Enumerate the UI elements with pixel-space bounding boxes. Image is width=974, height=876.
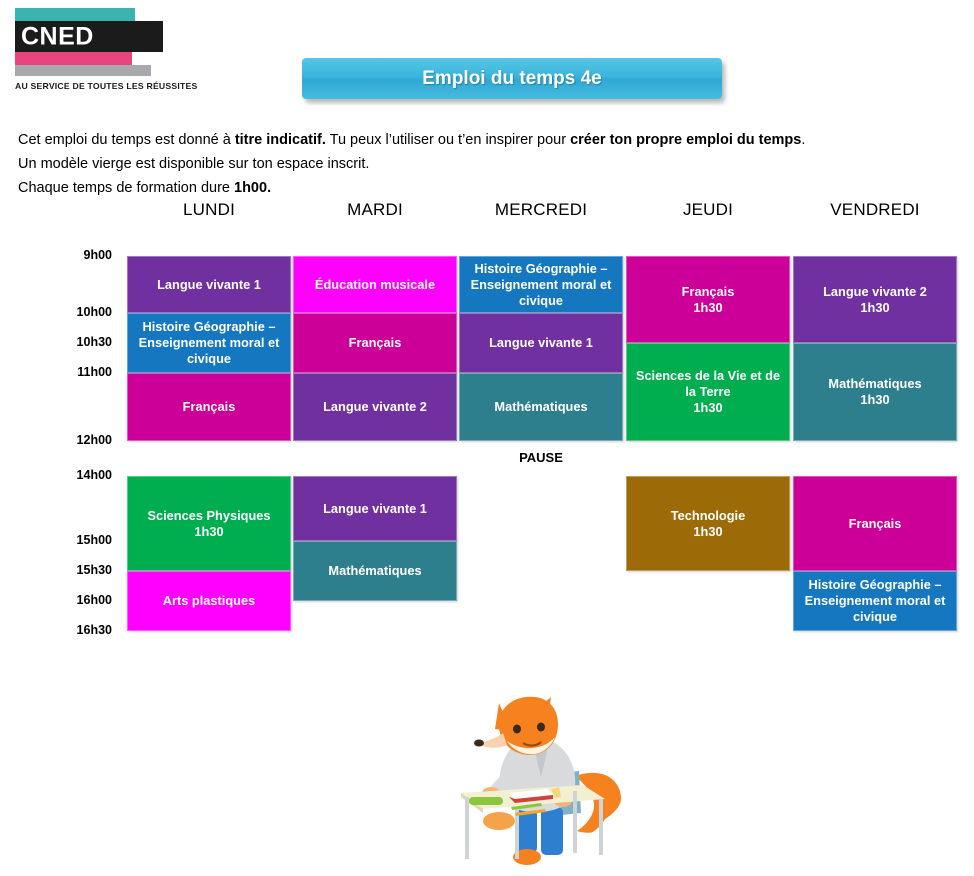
course-title: Arts plastiques [163, 593, 255, 609]
logo-bar-gray [15, 65, 151, 76]
course-title: Langue vivante 1 [489, 335, 593, 351]
course-title: Langue vivante 2 [323, 399, 427, 415]
logo-bar-teal [15, 8, 135, 21]
intro-text-e: . [801, 132, 805, 148]
course-title: Histoire Géographie – Enseignement moral… [464, 261, 618, 309]
logo-tagline: AU SERVICE DE TOUTES LES RÉUSSITES [15, 81, 170, 91]
course-cell[interactable]: Mathématiques1h30 [793, 343, 957, 441]
intro-text-f: Chaque temps de formation dure [18, 180, 234, 196]
intro-text-g: 1h00. [234, 180, 271, 196]
course-title: Mathématiques [494, 399, 587, 415]
course-cell[interactable]: Français [793, 476, 957, 571]
time-label-10h30: 10h30 [0, 335, 112, 349]
intro-line-1: Cet emploi du temps est donné à titre in… [18, 128, 938, 152]
course-cell[interactable]: Langue vivante 1 [459, 313, 623, 373]
time-label-16h30: 16h30 [0, 623, 112, 637]
logo-bar-black: CNED [15, 21, 163, 52]
intro-text-c: Tu peux l’utiliser ou t’en inspirer pour [326, 132, 570, 148]
time-label-14h00: 14h00 [0, 468, 112, 482]
page-title-banner: Emploi du temps 4e [302, 58, 722, 99]
day-header-lundi: LUNDI [127, 200, 291, 220]
intro-text-a: Cet emploi du temps est donné à [18, 132, 235, 148]
course-title: Éducation musicale [315, 277, 435, 293]
course-cell[interactable]: Mathématiques [459, 373, 623, 441]
course-title: Français [682, 284, 735, 300]
course-cell[interactable]: Éducation musicale [293, 256, 457, 313]
intro-line-3: Chaque temps de formation dure 1h00. [18, 176, 938, 200]
time-label-15h30: 15h30 [0, 563, 112, 577]
course-title: Langue vivante 1 [323, 501, 427, 517]
day-header-mercredi: MERCREDI [459, 200, 623, 220]
pause-label: PAUSE [459, 450, 623, 465]
course-cell[interactable]: Technologie1h30 [626, 476, 790, 571]
course-title: Mathématiques [828, 376, 921, 392]
course-duration: 1h30 [631, 400, 785, 416]
time-label-10h00: 10h00 [0, 305, 112, 319]
course-title: Mathématiques [328, 563, 421, 579]
course-cell[interactable]: Langue vivante 2 [293, 373, 457, 441]
course-title: Français [349, 335, 402, 351]
day-header-jeudi: JEUDI [626, 200, 790, 220]
time-label-9h00: 9h00 [0, 248, 112, 262]
cned-logo: CNED AU SERVICE DE TOUTES LES RÉUSSITES [15, 8, 167, 91]
course-cell[interactable]: Sciences de la Vie et de la Terre1h30 [626, 343, 790, 441]
logo-wordmark: CNED [21, 22, 94, 51]
course-title: Langue vivante 2 [823, 284, 927, 300]
day-header-vendredi: VENDREDI [793, 200, 957, 220]
course-title: Histoire Géographie – Enseignement moral… [798, 577, 952, 625]
course-cell[interactable]: Histoire Géographie – Enseignement moral… [459, 256, 623, 313]
timetable: LUNDIMARDIMERCREDIJEUDIVENDREDI [0, 200, 974, 646]
intro-text-b: titre indicatif. [235, 132, 326, 148]
course-title: Histoire Géographie – Enseignement moral… [132, 319, 286, 367]
timetable-board: 9h0010h0010h3011h0012h0014h0015h0015h301… [0, 226, 974, 646]
course-cell[interactable]: Langue vivante 1 [293, 476, 457, 541]
course-cell[interactable]: Histoire Géographie – Enseignement moral… [793, 571, 957, 631]
intro-paragraph: Cet emploi du temps est donné à titre in… [18, 128, 938, 200]
course-title: Sciences de la Vie et de la Terre [631, 368, 785, 400]
course-cell[interactable]: Mathématiques [293, 541, 457, 601]
time-label-15h00: 15h00 [0, 533, 112, 547]
page-title: Emploi du temps 4e [422, 68, 601, 90]
course-duration: 1h30 [147, 524, 270, 540]
course-cell[interactable]: Langue vivante 1 [127, 256, 291, 313]
course-cell[interactable]: Français [127, 373, 291, 441]
course-cell[interactable]: Français1h30 [626, 256, 790, 343]
course-cell[interactable]: Français [293, 313, 457, 373]
course-duration: 1h30 [682, 300, 735, 316]
course-title: Français [183, 399, 236, 415]
course-duration: 1h30 [671, 524, 745, 540]
time-label-11h00: 11h00 [0, 365, 112, 379]
course-cell[interactable]: Sciences Physiques1h30 [127, 476, 291, 571]
course-title: Français [849, 516, 902, 532]
course-duration: 1h30 [828, 392, 921, 408]
time-label-12h00: 12h00 [0, 433, 112, 447]
course-duration: 1h30 [823, 300, 927, 316]
fox-student-mascot-icon [455, 681, 640, 871]
time-label-16h00: 16h00 [0, 593, 112, 607]
logo-bar-pink [15, 52, 132, 65]
day-header-mardi: MARDI [293, 200, 457, 220]
course-cell[interactable]: Histoire Géographie – Enseignement moral… [127, 313, 291, 373]
course-title: Technologie [671, 508, 745, 524]
intro-text-d: créer ton propre emploi du temps [570, 132, 801, 148]
course-title: Sciences Physiques [147, 508, 270, 524]
intro-line-2: Un modèle vierge est disponible sur ton … [18, 152, 938, 176]
course-cell[interactable]: Langue vivante 21h30 [793, 256, 957, 343]
course-cell[interactable]: Arts plastiques [127, 571, 291, 631]
course-title: Langue vivante 1 [157, 277, 261, 293]
timetable-day-headers: LUNDIMARDIMERCREDIJEUDIVENDREDI [0, 200, 974, 226]
